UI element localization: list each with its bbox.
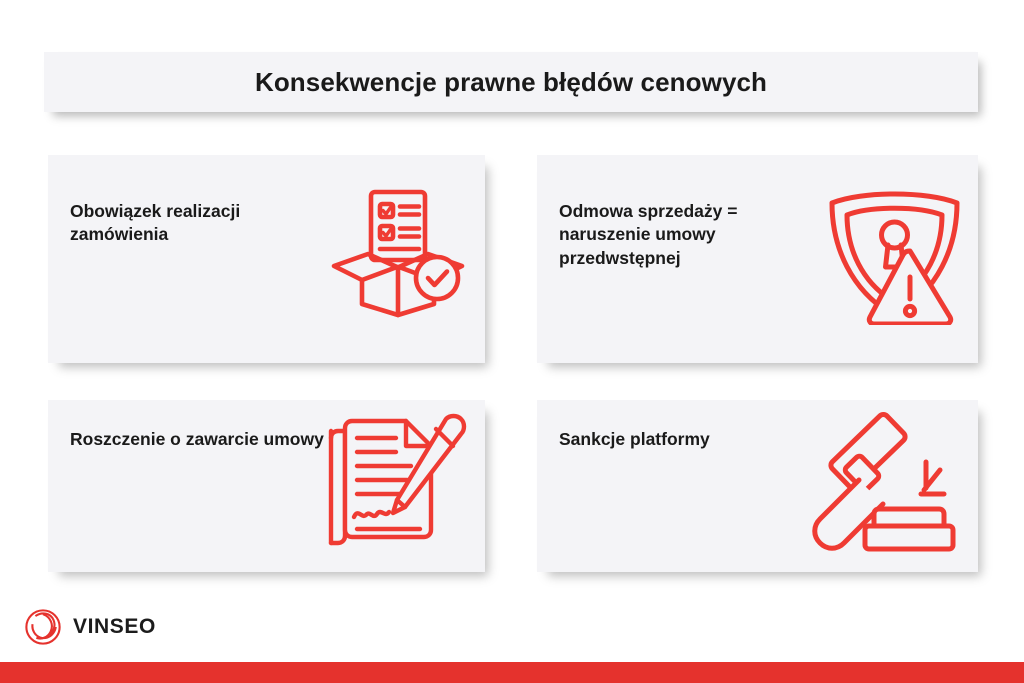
- brand-name: VINSEO: [73, 615, 156, 639]
- page-title: Konsekwencje prawne błędów cenowych: [255, 67, 767, 98]
- card-odmowa-sprzedazy: Odmowa sprzedaży = naruszenie umowy prze…: [537, 155, 978, 363]
- shield-keyhole-warning-icon: [822, 185, 967, 325]
- card-sankcje-platformy: Sankcje platformy: [537, 400, 978, 572]
- title-banner: Konsekwencje prawne błędów cenowych: [44, 52, 978, 112]
- open-box-checklist-icon: [331, 188, 471, 318]
- slide-canvas: Konsekwencje prawne błędów cenowych Obow…: [0, 0, 1024, 683]
- card-label: Obowiązek realizacji zamówienia: [70, 200, 330, 247]
- card-label: Odmowa sprzedaży = naruszenie umowy prze…: [559, 200, 819, 270]
- card-label: Roszczenie o zawarcie umowy: [70, 428, 330, 451]
- gavel-icon: [797, 410, 962, 560]
- card-roszczenie-o-zawarcie: Roszczenie o zawarcie umowy: [48, 400, 485, 572]
- card-label: Sankcje platformy: [559, 428, 799, 451]
- vinseo-swirl-logo-icon: [24, 608, 62, 646]
- footer-logo: VINSEO: [24, 608, 156, 646]
- card-obowiazek-realizacji: Obowiązek realizacji zamówienia: [48, 155, 485, 363]
- contract-signature-pen-icon: [323, 412, 478, 552]
- bottom-accent-bar: [0, 662, 1024, 683]
